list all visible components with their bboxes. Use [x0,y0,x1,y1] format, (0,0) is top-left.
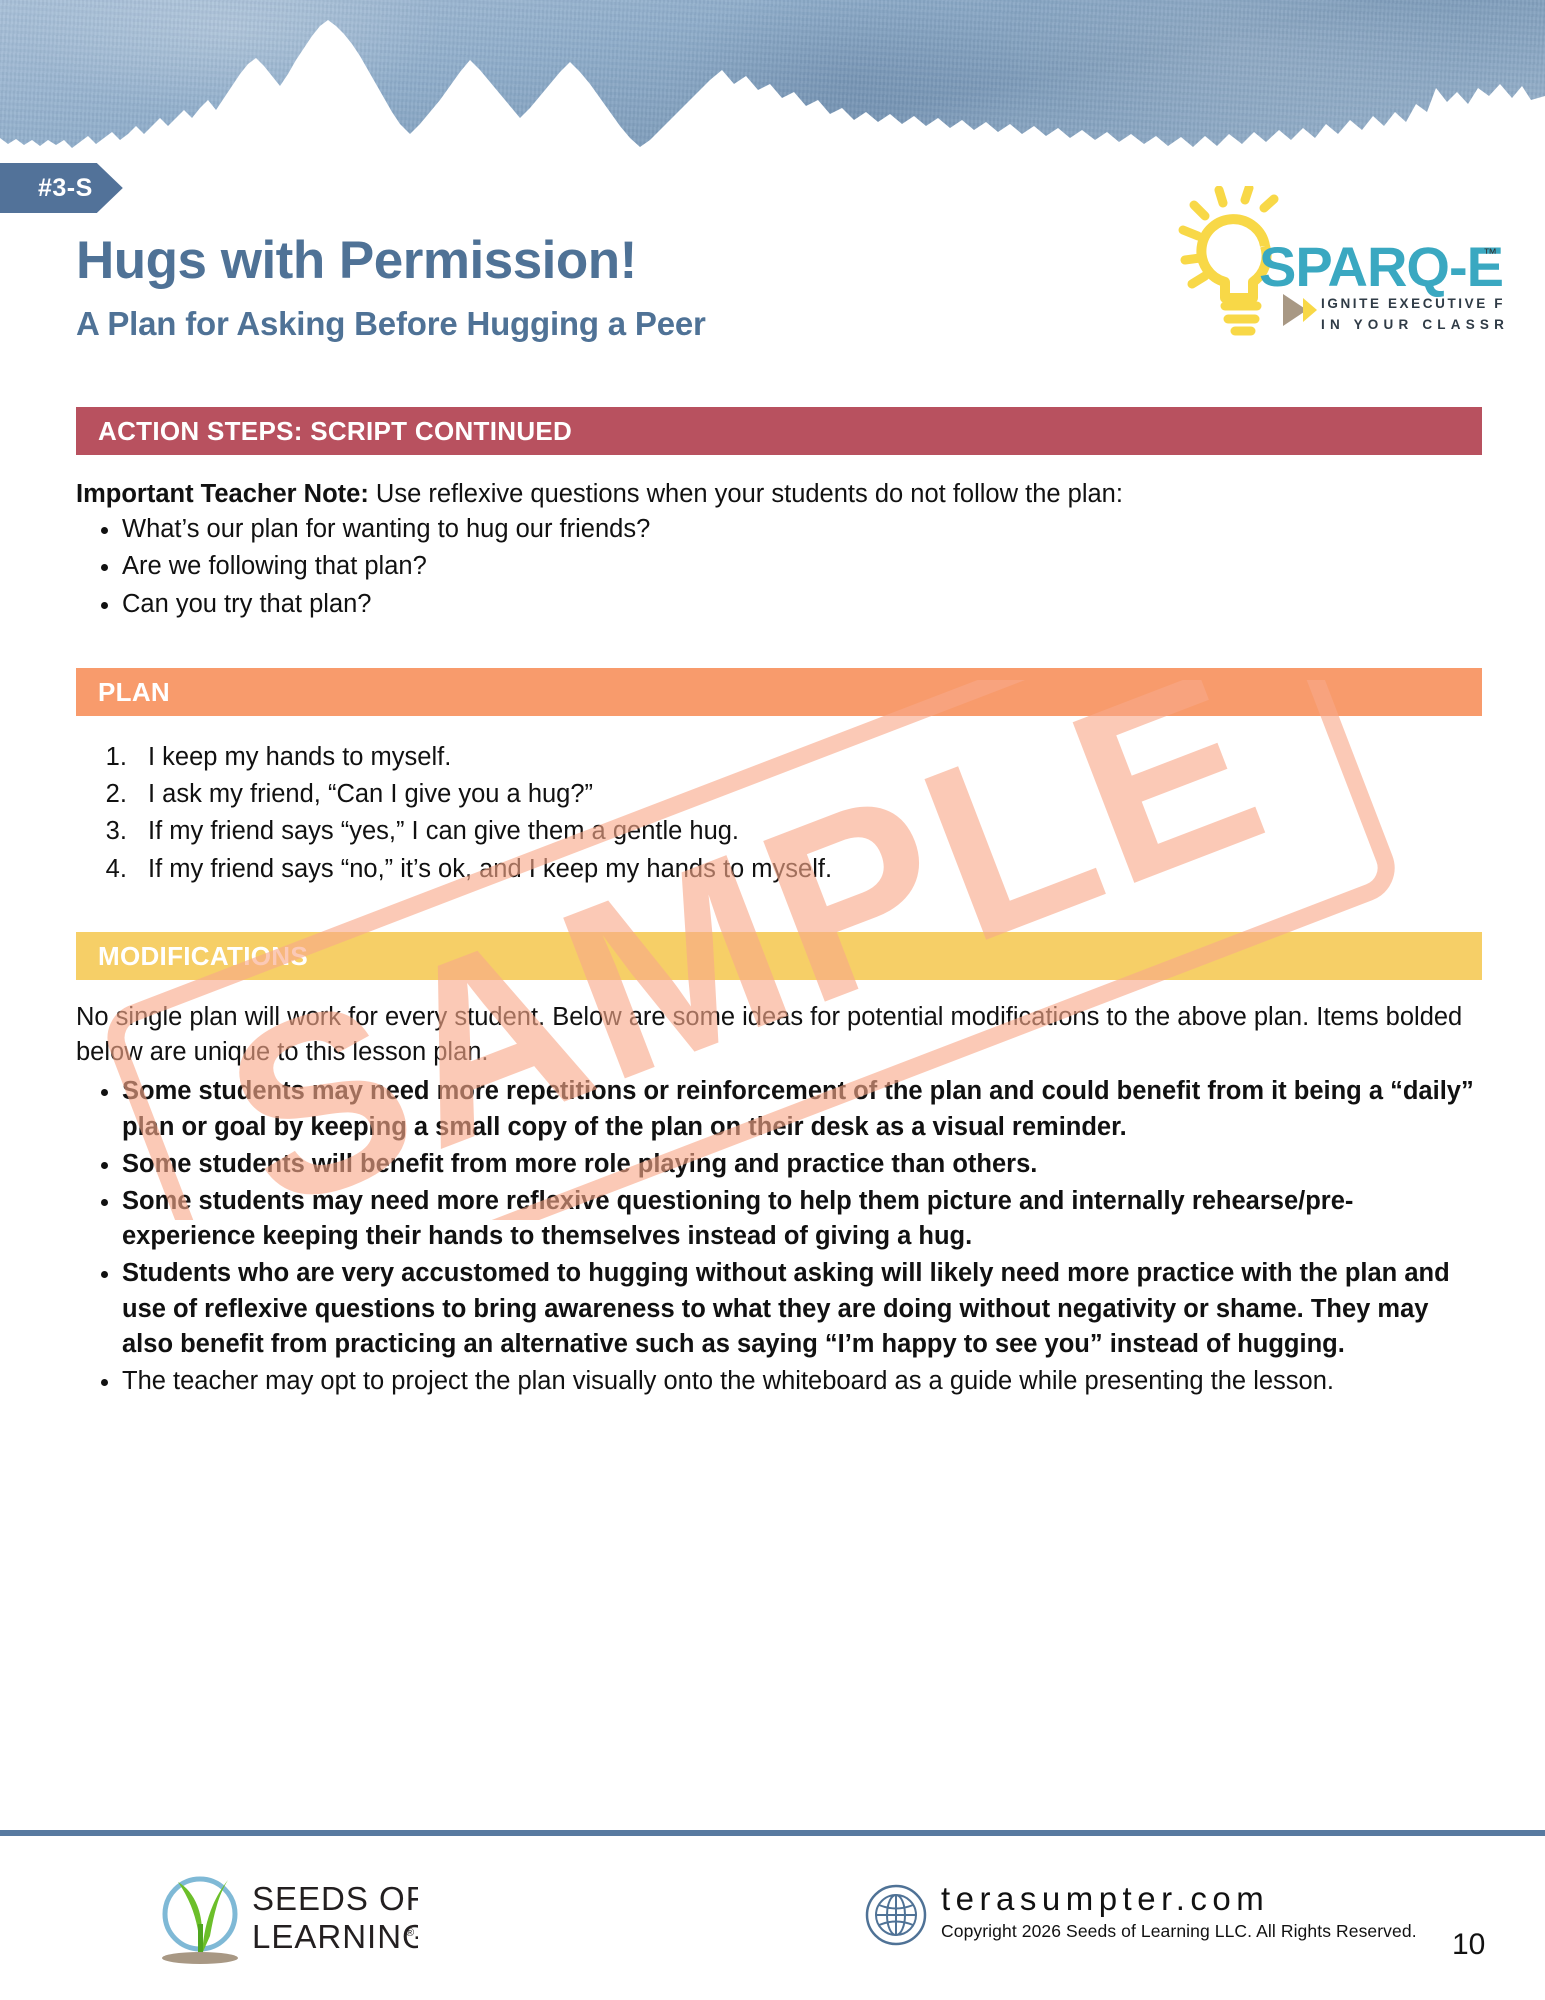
action-steps-bullet-list: What’s our plan for wanting to hug our f… [76,512,1486,622]
website-text-group: terasumpter.com Copyright 2026 Seeds of … [941,1882,1417,1942]
section-header-plan: PLAN [76,668,1482,716]
section-header-action-steps: ACTION STEPS: SCRIPT CONTINUED [76,407,1482,455]
seeds-logo-line-1: SEEDS OF [252,1880,418,1917]
list-item: The teacher may opt to project the plan … [122,1364,1486,1399]
seeds-of-learning-logo: SEEDS OF LEARNING ® [148,1862,418,1970]
lesson-number-tag: #3-S [0,163,123,213]
list-item: Are we following that plan? [122,549,1486,584]
section-header-action-steps-label: ACTION STEPS: SCRIPT CONTINUED [98,416,572,447]
list-item: I keep my hands to myself. [134,740,1486,775]
page-subtitle: A Plan for Asking Before Hugging a Peer [76,305,706,343]
list-item: Some students may need more repetitions … [122,1074,1486,1144]
website-footer-block: terasumpter.com Copyright 2026 Seeds of … [865,1882,1417,1946]
sparq-tagline-line-2: IN YOUR CLASSROOM [1321,317,1505,332]
action-steps-content: Important Teacher Note: Use reflexive qu… [76,477,1486,624]
plan-step-list: I keep my hands to myself. I ask my frie… [76,740,1486,887]
footer-divider [0,1830,1545,1836]
sparq-tagline-line-1: IGNITE EXECUTIVE FUNCTION [1321,296,1505,311]
section-header-modifications: MODIFICATIONS [76,932,1482,980]
bulb-base-icon [1225,306,1257,331]
seeds-logo-line-2: LEARNING [252,1918,418,1955]
lesson-number-label: #3-S [38,174,93,203]
website-url[interactable]: terasumpter.com [941,1882,1417,1917]
list-item: What’s our plan for wanting to hug our f… [122,512,1486,547]
modifications-content: No single plan will work for every stude… [76,1000,1486,1401]
trademark-symbol: ™ [1483,245,1497,261]
teacher-note-label: Important Teacher Note: [76,480,369,508]
list-item: Students who are very accustomed to hugg… [122,1256,1486,1362]
torn-paper-header [0,0,1545,150]
stem-shape [198,1924,203,1956]
list-item: If my friend says “no,” it’s ok, and I k… [134,852,1486,887]
registered-symbol: ® [406,1927,414,1939]
modifications-bullet-list: Some students may need more repetitions … [76,1074,1486,1399]
page-number: 10 [1452,1928,1485,1962]
sparq-ef-logo: SPARQ-EF ™ IGNITE EXECUTIVE FUNCTION IN … [1165,186,1505,341]
torn-paper-edge-mask [0,0,1545,150]
list-item: Some students may need more reflexive qu… [122,1184,1486,1254]
list-item: Can you try that plan? [122,587,1486,622]
plan-content: I keep my hands to myself. I ask my frie… [76,740,1486,889]
arrow-tip-shape [1303,298,1317,322]
globe-icon [865,1884,927,1946]
teacher-note-text: Use reflexive questions when your studen… [369,480,1123,508]
copyright-text: Copyright 2026 Seeds of Learning LLC. Al… [941,1921,1417,1942]
list-item: Some students will benefit from more rol… [122,1147,1486,1182]
modifications-intro: No single plan will work for every stude… [76,1000,1486,1070]
list-item: I ask my friend, “Can I give you a hug?” [134,777,1486,812]
page-title: Hugs with Permission! [76,233,637,289]
section-header-modifications-label: MODIFICATIONS [98,941,308,972]
teacher-note: Important Teacher Note: Use reflexive qu… [76,477,1486,512]
sparq-ef-wordmark: SPARQ-EF [1259,235,1505,298]
list-item: If my friend says “yes,” I can give them… [134,814,1486,849]
soil-shape [162,1952,238,1964]
section-header-plan-label: PLAN [98,677,170,708]
